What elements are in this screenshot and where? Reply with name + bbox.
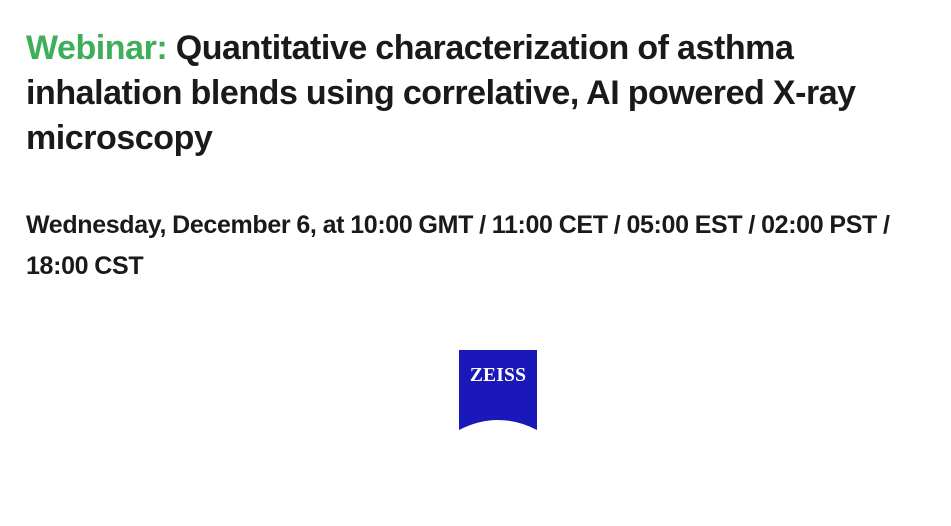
zeiss-logo-icon: ZEISS [459,350,537,430]
title-eyebrow: Webinar: [26,29,167,67]
zeiss-logo: ZEISS [459,350,537,430]
webinar-announcement-slide: Webinar: Quantitative characterization o… [0,0,951,526]
zeiss-logo-shield-shape [459,350,537,430]
page-title: Webinar: Quantitative characterization o… [26,26,936,161]
title-block: Webinar: Quantitative characterization o… [26,26,936,161]
schedule-text: Wednesday, December 6, at 10:00 GMT / 11… [26,205,936,287]
zeiss-logo-wordmark: ZEISS [470,365,526,386]
schedule-block: Wednesday, December 6, at 10:00 GMT / 11… [26,205,936,287]
